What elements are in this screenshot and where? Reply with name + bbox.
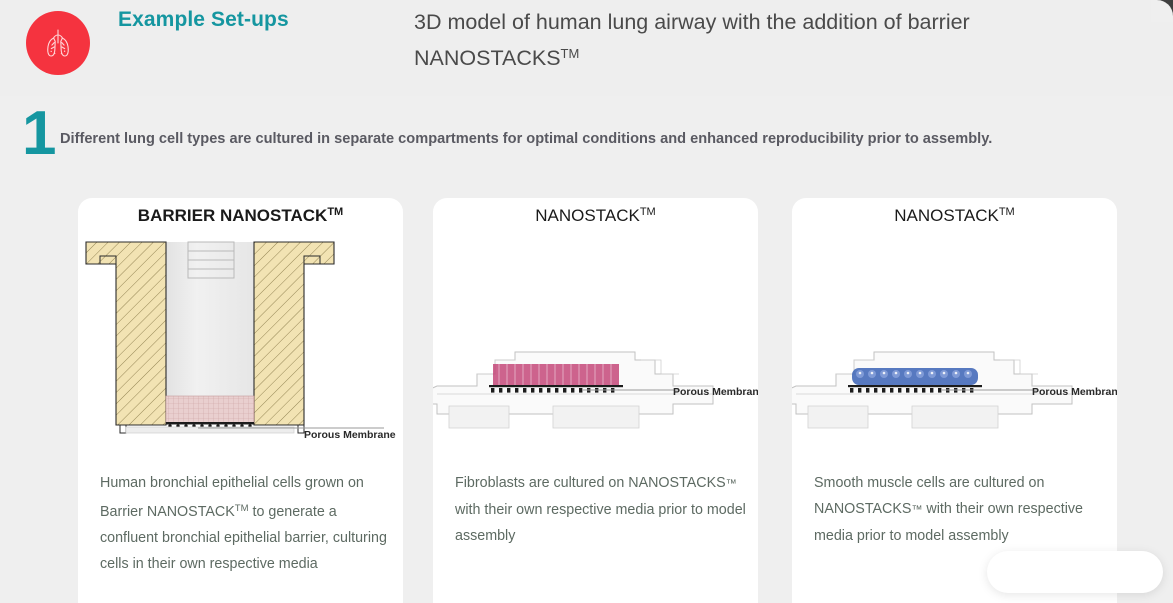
diagram-barrier-nanostack: Porous Membrane [78, 238, 403, 453]
porous-membrane-label: Porous Membrane [1032, 386, 1117, 398]
card-caption: Smooth muscle cells are cultured on NANO… [814, 470, 1106, 549]
cell-layer [852, 368, 978, 385]
card-title: NANOSTACKTM [792, 206, 1117, 226]
nanostack-cross-section-illustration: Porous Membrane [433, 238, 758, 453]
porous-membrane-label: Porous Membrane [673, 386, 758, 398]
trademark-mark: TM [561, 46, 580, 61]
insert-cross-section-illustration: Porous Membrane [78, 238, 403, 453]
page-title: 3D model of human lung airway with the a… [414, 6, 1114, 74]
card-caption: Human bronchial epithelial cells grown o… [100, 470, 392, 577]
card-title-text: NANOSTACK [894, 206, 999, 225]
card-title-text: NANOSTACK [535, 206, 640, 225]
page-header: Example Set-ups 3D model of human lung a… [0, 0, 1173, 96]
diagram-nanostack-smooth-muscle: Porous Membrane [792, 238, 1117, 453]
caption-segment: Fibroblasts are cultured on NANOSTACKS [455, 475, 726, 491]
eyebrow-label: Example Set-ups [118, 8, 289, 32]
card-caption: Fibroblasts are cultured on NANOSTACKS™ … [455, 470, 747, 549]
lungs-icon-badge [26, 11, 90, 75]
page-corner-fold [1151, 0, 1173, 22]
card-title-text: BARRIER NANOSTACK [138, 206, 328, 225]
trademark-mark: TM [999, 206, 1015, 218]
step-row: 1 Different lung cell types are cultured… [0, 104, 1173, 172]
setup-card-barrier-nanostack[interactable]: BARRIER NANOSTACKTM [78, 198, 403, 603]
step-description: Different lung cell types are cultured i… [60, 131, 992, 147]
trademark-mark: TM [327, 206, 343, 218]
page-root: Example Set-ups 3D model of human lung a… [0, 0, 1173, 603]
nanostack-cross-section-illustration: Porous Membrane [792, 238, 1117, 453]
diagram-nanostack-fibroblasts: Porous Membrane [433, 238, 758, 453]
page-title-line-1: 3D model of human lung airway with the a… [414, 10, 970, 34]
floating-widget-button[interactable] [987, 551, 1163, 593]
cell-layer [493, 364, 619, 385]
caption-segment: with their own respective media prior to… [455, 502, 746, 544]
trademark-mark: ™ [911, 504, 922, 516]
porous-membrane-label: Porous Membrane [304, 429, 396, 441]
trademark-mark: TM [235, 503, 249, 514]
trademark-mark: TM [640, 206, 656, 218]
card-title: BARRIER NANOSTACKTM [78, 206, 403, 226]
card-title: NANOSTACKTM [433, 206, 758, 226]
setup-card-nanostack-fibroblasts[interactable]: NANOSTACKTM [433, 198, 758, 603]
trademark-mark: ™ [726, 478, 737, 490]
setup-card-nanostack-smooth-muscle[interactable]: NANOSTACKTM [792, 198, 1117, 603]
page-title-line-2: NANOSTACKS [414, 46, 561, 70]
lungs-icon [37, 22, 79, 64]
step-number: 1 [22, 100, 56, 168]
